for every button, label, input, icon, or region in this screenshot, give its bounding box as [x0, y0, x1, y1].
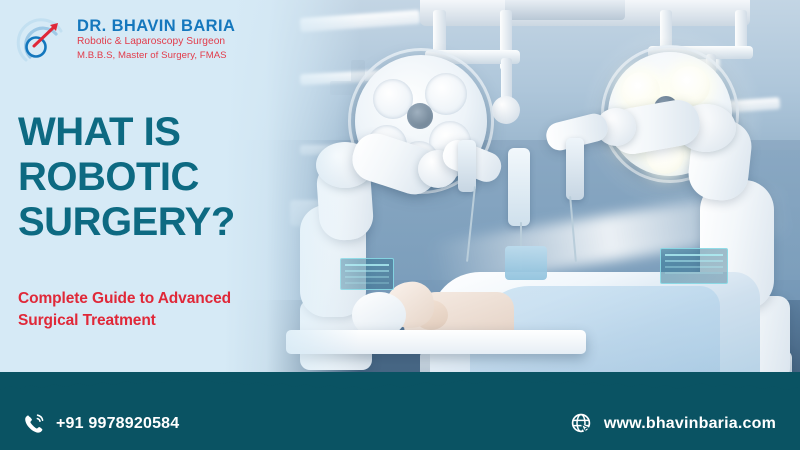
phone-number: +91 9978920584: [56, 415, 179, 433]
contact-website[interactable]: www.bhavinbaria.com: [570, 412, 776, 436]
torn-paper-edge: [0, 372, 800, 406]
lamp-camera: [407, 103, 433, 129]
surgical-instrument: [458, 140, 476, 192]
instrument-blue-module: [505, 246, 547, 280]
page-title: WHAT IS ROBOTIC SURGERY?: [18, 110, 318, 244]
website-url: www.bhavinbaria.com: [604, 415, 776, 433]
contact-phone[interactable]: +91 9978920584: [22, 412, 179, 436]
surgical-scalpel-circle-icon: [16, 14, 68, 66]
surgical-instrument: [508, 148, 530, 226]
brand-text: DR. BHAVIN BARIA Robotic & Laparoscopy S…: [77, 18, 235, 62]
phone-ringing-icon: [22, 412, 46, 436]
brand-tagline: Robotic & Laparoscopy Surgeon: [77, 36, 235, 49]
brand-name: DR. BHAVIN BARIA: [77, 18, 235, 35]
footer-bar: +91 9978920584 www.bhavinbaria.com: [0, 372, 800, 450]
ceiling-mount-box: [505, 0, 625, 20]
brand-logo[interactable]: DR. BHAVIN BARIA Robotic & Laparoscopy S…: [16, 14, 235, 66]
subtitle-line-2: Surgical Treatment: [18, 310, 308, 332]
page-subtitle: Complete Guide to Advanced Surgical Trea…: [18, 288, 308, 333]
headline-line-3: SURGERY?: [18, 200, 318, 245]
brand-credentials: M.B.B.S, Master of Surgery, FMAS: [77, 50, 235, 62]
banner: DR. BHAVIN BARIA Robotic & Laparoscopy S…: [0, 0, 800, 450]
subtitle-line-1: Complete Guide to Advanced: [18, 288, 308, 310]
surgical-instrument: [566, 138, 584, 200]
holographic-hud-panel: [660, 248, 728, 284]
globe-cursor-icon: [570, 412, 594, 436]
headline-line-2: ROBOTIC: [18, 155, 318, 200]
mount-joint: [492, 96, 520, 124]
headline-line-1: WHAT IS: [18, 110, 318, 155]
